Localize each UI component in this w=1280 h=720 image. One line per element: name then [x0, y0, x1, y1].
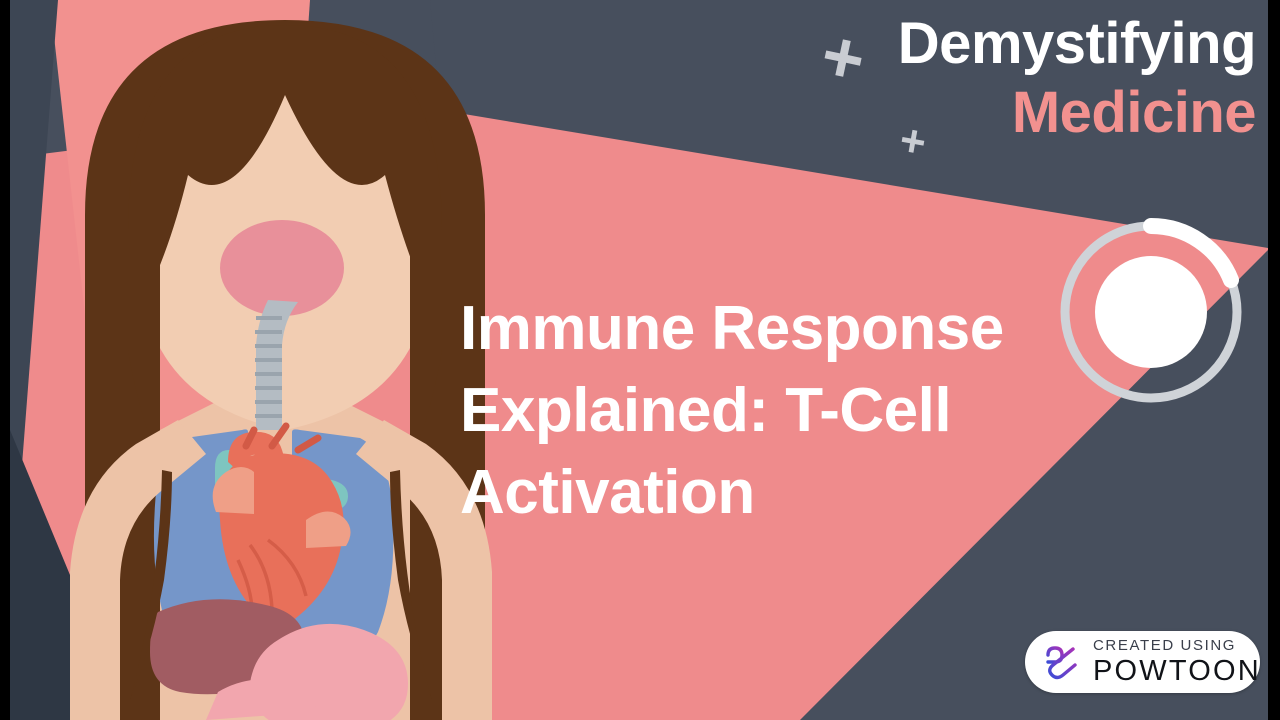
brand-line-1: Demystifying: [736, 16, 1256, 73]
powtoon-created-label: CREATED USING: [1093, 638, 1261, 655]
video-player-frame: Demystifying Medicine + + Immune Respons…: [0, 0, 1280, 720]
title-line-3: Activation: [460, 452, 1060, 534]
powtoon-label-group: CREATED USING POWTOON: [1093, 638, 1261, 686]
video-content-area: Demystifying Medicine + + Immune Respons…: [10, 0, 1268, 720]
title-line-1: Immune Response: [460, 288, 1060, 370]
progress-ring-center-disc: [1095, 256, 1207, 368]
channel-branding: Demystifying Medicine: [736, 16, 1256, 142]
progress-ring[interactable]: [1053, 214, 1249, 410]
video-title: Immune Response Explained: T-Cell Activa…: [460, 288, 1060, 533]
brand-line-2: Medicine: [736, 85, 1256, 142]
title-line-2: Explained: T-Cell: [460, 370, 1060, 452]
powtoon-watermark-badge[interactable]: CREATED USING POWTOON: [1025, 631, 1260, 693]
powtoon-logo-icon: [1039, 639, 1085, 685]
powtoon-brand-label: POWTOON: [1093, 656, 1261, 686]
